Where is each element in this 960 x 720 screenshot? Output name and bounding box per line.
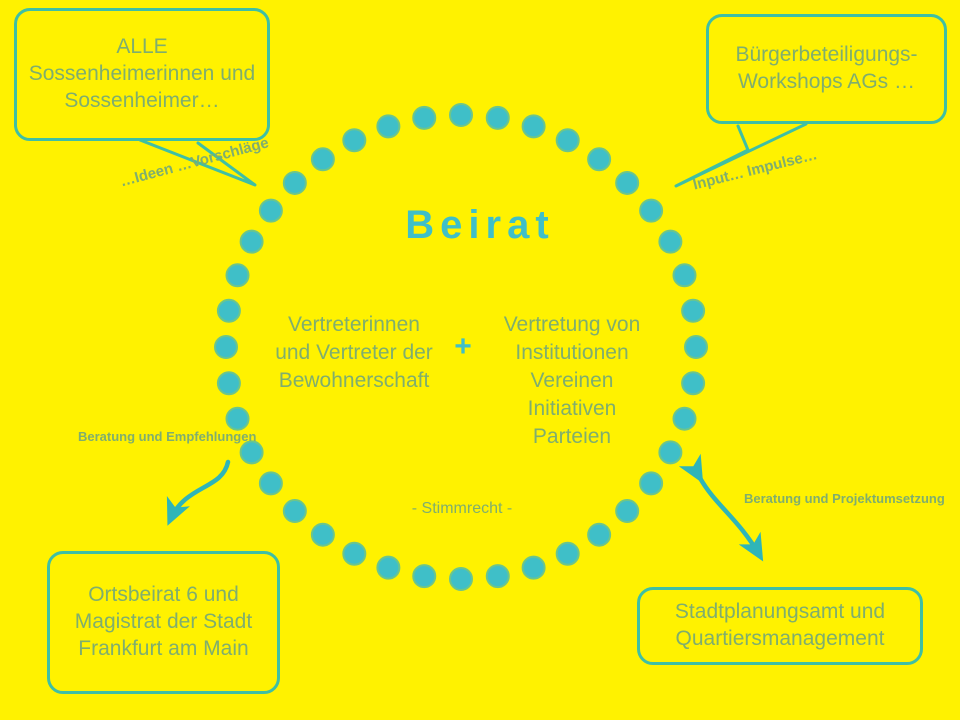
caption-beratung-empfehlungen-line: Beratung und Empfehlungen [78, 428, 256, 446]
caption-beratung-empfehlungen: Beratung und Empfehlungen [78, 428, 256, 446]
ring-dot [284, 172, 306, 194]
ring-dot [413, 107, 435, 129]
ring-dot [218, 300, 240, 322]
stimmrecht-note: - Stimmrecht - [348, 500, 576, 518]
ring-dot [685, 336, 707, 358]
ring-dot [343, 129, 365, 151]
speech-bubble-alle-sossenheimer[interactable]: ALLE Sossenheimerinnen und Sossenheimer… [14, 8, 270, 141]
ring-dot [487, 565, 509, 587]
ring-dot [674, 264, 696, 286]
box-ortsbeirat-magistrat[interactable]: Ortsbeirat 6 und Magistrat der Stadt Fra… [47, 551, 280, 694]
ring-dot [312, 524, 334, 546]
diagram-canvas: ALLE Sossenheimerinnen und Sossenheimer…… [0, 0, 960, 720]
ring-dot [377, 557, 399, 579]
box-stadtplanungsamt-quartiersmanagement-label: Stadtplanungsamt und Quartiersmanagement [650, 599, 910, 653]
ring-dot [557, 543, 579, 565]
ring-dot [588, 524, 610, 546]
arrow-beirat-to-ortsbeirat [170, 462, 228, 520]
column-institutionen: Vertretung von Institutionen Vereinen In… [486, 311, 658, 451]
ring-dot [682, 300, 704, 322]
ring-dot [343, 543, 365, 565]
ring-dot [640, 472, 662, 494]
ring-dot [523, 115, 545, 137]
ring-dot [260, 472, 282, 494]
box-ortsbeirat-magistrat-label: Ortsbeirat 6 und Magistrat der Stadt Fra… [60, 582, 267, 663]
box-stadtplanungsamt-quartiersmanagement[interactable]: Stadtplanungsamt und Quartiersmanagement [637, 587, 923, 665]
ring-dot [450, 104, 472, 126]
ring-dot [227, 408, 249, 430]
speech-bubble-buergerbeteiligung-label: Bürgerbeteiligungs- Workshops AGs … [719, 42, 934, 96]
caption-beratung-projektumsetzung: Beratung und Projektumsetzung [744, 490, 945, 508]
ring-dot [312, 148, 334, 170]
ring-dot [616, 172, 638, 194]
beirat-title: Beirat [0, 203, 960, 248]
ring-dot [674, 408, 696, 430]
ring-dot [588, 148, 610, 170]
ring-dot [523, 557, 545, 579]
ring-dot [215, 336, 237, 358]
ring-dot [450, 568, 472, 590]
caption-beratung-projektumsetzung-line: Beratung und Projektumsetzung [744, 490, 945, 508]
speech-bubble-buergerbeteiligung[interactable]: Bürgerbeteiligungs- Workshops AGs … [706, 14, 947, 124]
ring-dot [218, 372, 240, 394]
ring-dot [227, 264, 249, 286]
ring-dot [682, 372, 704, 394]
ring-dot [557, 129, 579, 151]
speech-bubble-alle-sossenheimer-label: ALLE Sossenheimerinnen und Sossenheimer… [27, 34, 257, 115]
plus-icon: + [441, 330, 485, 364]
column-bewohnerschaft: Vertreterinnen und Vertreter der Bewohne… [268, 311, 440, 395]
ring-dot [284, 500, 306, 522]
ring-dot [413, 565, 435, 587]
ring-dot [616, 500, 638, 522]
ring-dot [487, 107, 509, 129]
ring-dot [377, 115, 399, 137]
ring-dot [659, 441, 681, 463]
